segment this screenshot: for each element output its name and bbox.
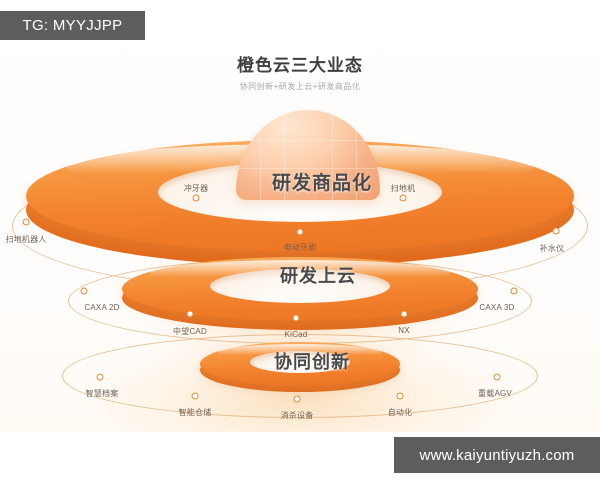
orbit-node-dot xyxy=(297,229,304,236)
page-subtitle: 协同创新+研发上云+研发商品化 xyxy=(0,81,600,92)
orbit-node-dot xyxy=(397,393,404,400)
orbit-node-label: 冲牙器 xyxy=(184,183,209,194)
orbit-node-dot xyxy=(553,228,560,235)
orbit-node-label: 补水仪 xyxy=(540,243,565,254)
orbit-node-label: KiCad xyxy=(285,330,308,339)
orbit-node-dot xyxy=(400,195,407,202)
page-title: 橙色云三大业态 xyxy=(0,56,600,76)
orbit-node-label: CAXA 2D xyxy=(84,303,119,312)
orbit-node-dot xyxy=(401,311,408,318)
orbit-node-label: 电动牙刷 xyxy=(284,242,317,253)
screenshot-root: 橙色云三大业态 协同创新+研发上云+研发商品化 xyxy=(0,0,600,480)
orbit-node-label: 自动化 xyxy=(388,407,413,418)
orbit-node-label: CAXA 3D xyxy=(479,303,514,312)
orbit-node-label: 智慧档案 xyxy=(86,388,119,399)
telegram-watermark-badge: TG: MYYJJPP xyxy=(0,11,145,40)
orbit-node-dot xyxy=(193,195,200,202)
site-watermark-badge: www.kaiyuntiyuzh.com xyxy=(394,437,600,473)
layer-title-1: 研发商品化 xyxy=(272,168,372,195)
orbit-node-label: 消杀设备 xyxy=(281,410,314,421)
orbit-node-label: 扫地机器人 xyxy=(6,234,47,245)
orbit-node-dot xyxy=(294,396,301,403)
orbit-node-label: 智能仓储 xyxy=(179,407,212,418)
orbit-node-dot xyxy=(187,311,194,318)
orbit-node-label: 重载AGV xyxy=(478,388,512,399)
infographic-artboard: 橙色云三大业态 协同创新+研发上云+研发商品化 xyxy=(0,0,600,432)
orbit-node-dot xyxy=(494,374,501,381)
orbit-node-dot xyxy=(81,288,88,295)
infographic-heading: 橙色云三大业态 协同创新+研发上云+研发商品化 xyxy=(0,56,600,92)
orbit-node-label: 中望CAD xyxy=(173,326,207,337)
orbit-node-dot xyxy=(511,288,518,295)
layer-title-2: 研发上云 xyxy=(280,262,356,288)
orbit-node-dot xyxy=(293,315,300,322)
orbit-node-dot xyxy=(192,393,199,400)
layer-title-3: 协同创新 xyxy=(274,348,350,374)
orbit-node-dot xyxy=(97,374,104,381)
orbit-node-label: NX xyxy=(398,326,410,335)
orbit-node-label: 扫地机 xyxy=(391,183,416,194)
orbit-node-dot xyxy=(23,219,30,226)
